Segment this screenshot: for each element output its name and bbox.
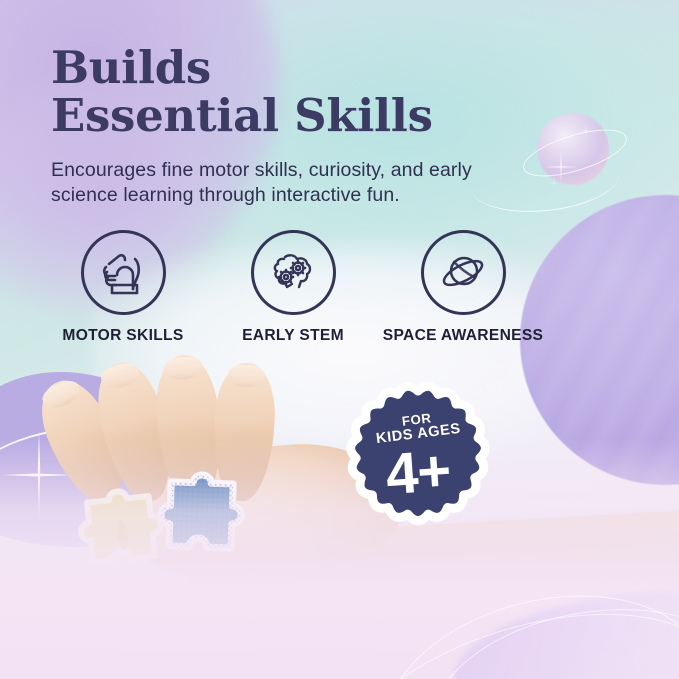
badge-starburst-shape	[336, 371, 500, 535]
hand-grasping-block-icon	[95, 245, 151, 301]
headline-line-2: Essential Skills	[51, 92, 571, 140]
feature-list: MOTOR SKILLS EARLY STEM	[48, 230, 538, 345]
product-feature-infographic: Builds Essential Skills Encourages fine …	[0, 0, 679, 679]
feature-motor-skills: MOTOR SKILLS	[48, 230, 198, 345]
feature-label: MOTOR SKILLS	[62, 327, 183, 345]
age-badge: FOR KIDS AGES 4+	[336, 371, 500, 535]
feature-icon-ring	[81, 230, 166, 315]
headline-line-1: Builds	[51, 41, 211, 94]
page-title: Builds Essential Skills	[51, 44, 571, 140]
feature-label: SPACE AWARENESS	[383, 327, 543, 345]
fingernail	[163, 356, 203, 381]
feature-icon-ring	[251, 230, 336, 315]
fingernail	[227, 364, 265, 388]
brain-gears-icon	[265, 245, 321, 301]
fingernail	[39, 377, 83, 413]
feature-early-stem: EARLY STEM	[218, 230, 368, 345]
page-subtitle: Encourages fine motor skills, curiosity,…	[51, 158, 541, 208]
feature-label: EARLY STEM	[242, 327, 344, 345]
saturn-planet-icon	[435, 245, 491, 301]
fingernail	[99, 361, 142, 392]
feature-space-awareness: SPACE AWARENESS	[388, 230, 538, 345]
feature-icon-ring	[421, 230, 506, 315]
